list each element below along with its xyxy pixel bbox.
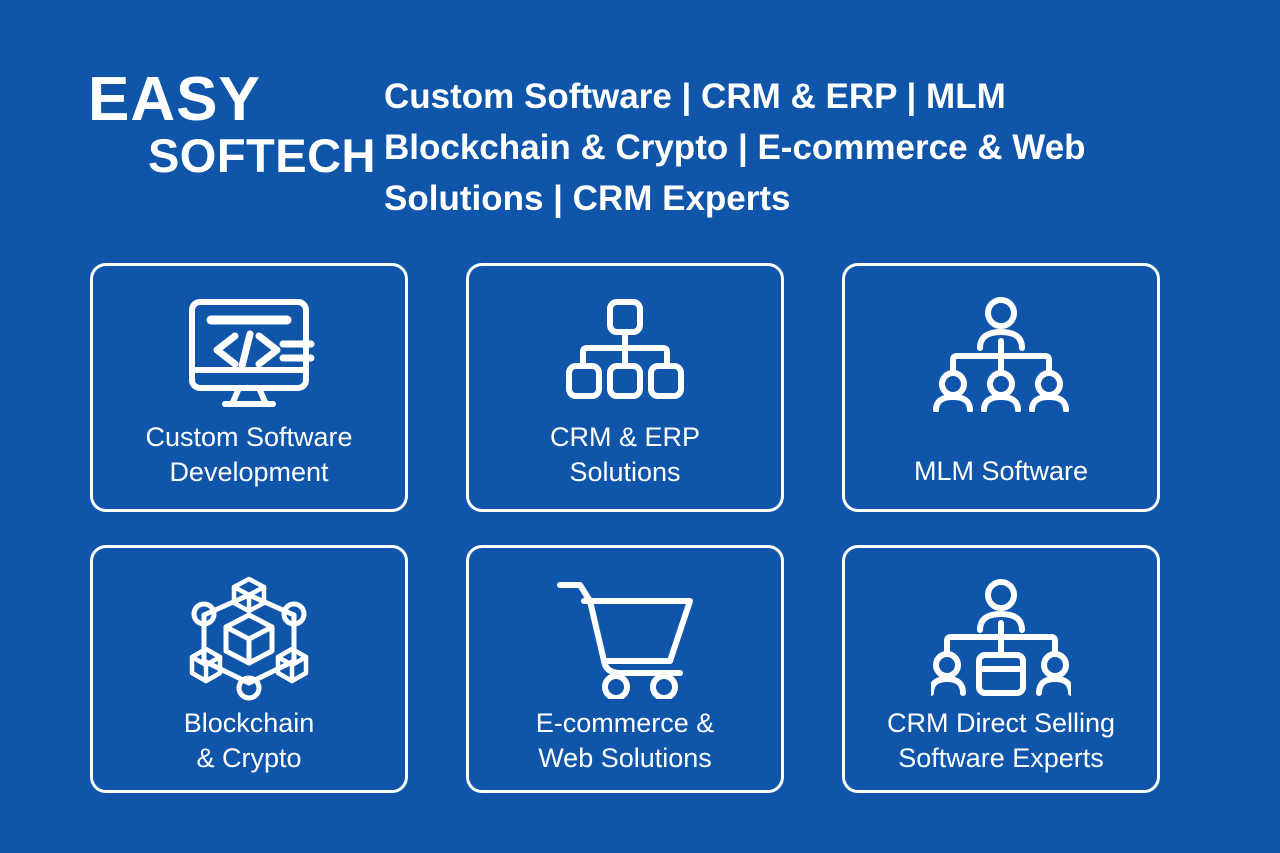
service-card-custom-software[interactable]: Custom Software Development: [90, 263, 408, 512]
brand-line-softech: SOFTECH: [88, 131, 378, 180]
service-card-ecommerce[interactable]: E-commerce & Web Solutions: [466, 545, 784, 793]
shopping-cart-icon: [554, 570, 696, 706]
header: EASY SOFTECH Custom Software | CRM & ERP…: [88, 62, 1188, 242]
blockchain-network-icon: [184, 570, 314, 706]
service-card-label: CRM & ERP Solutions: [550, 420, 700, 495]
service-card-blockchain[interactable]: Blockchain & Crypto: [90, 545, 408, 793]
service-card-label: MLM Software: [914, 454, 1088, 495]
brand-line-easy: EASY: [88, 70, 378, 131]
monitor-code-icon: [183, 288, 315, 420]
service-card-crm-direct-selling[interactable]: CRM Direct Selling Software Experts: [842, 545, 1160, 793]
service-card-mlm[interactable]: MLM Software: [842, 263, 1160, 512]
brand-logo: EASY SOFTECH: [88, 62, 378, 180]
service-card-label: E-commerce & Web Solutions: [536, 706, 715, 783]
service-card-label: CRM Direct Selling Software Experts: [887, 706, 1115, 783]
crm-direct-selling-icon: [931, 570, 1071, 706]
org-chart-icon: [565, 288, 685, 420]
people-hierarchy-icon: [932, 288, 1070, 420]
poster-canvas: EASY SOFTECH Custom Software | CRM & ERP…: [0, 0, 1280, 853]
service-card-label: Custom Software Development: [145, 420, 352, 495]
service-card-crm-erp[interactable]: CRM & ERP Solutions: [466, 263, 784, 512]
service-card-grid: Custom Software Development CRM & ERP So…: [90, 263, 1160, 793]
header-tagline: Custom Software | CRM & ERP | MLM Blockc…: [378, 62, 1138, 224]
service-card-label: Blockchain & Crypto: [184, 706, 315, 783]
